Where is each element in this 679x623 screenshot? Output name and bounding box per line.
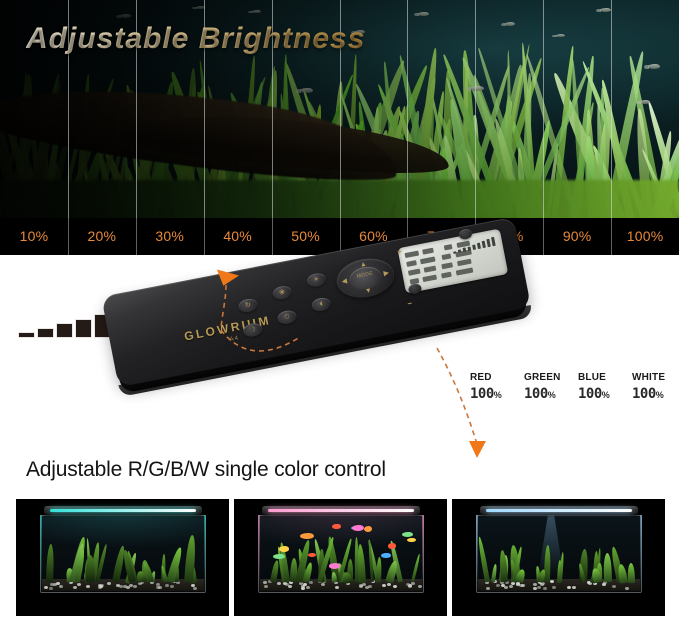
aquarium-blue xyxy=(452,499,665,616)
brightness-label-1: 10% xyxy=(0,218,68,255)
channel-label: WHITE xyxy=(632,372,679,383)
channel-value: 100 xyxy=(578,386,602,402)
brightness-label-4: 40% xyxy=(204,218,272,255)
aquarium-pink xyxy=(234,499,447,616)
aquarium-cyan xyxy=(16,499,229,616)
channel-blue: BLUE100% xyxy=(578,372,626,403)
channel-label: RED xyxy=(470,372,518,383)
dpad-center-label: MODE xyxy=(349,269,382,281)
channel-label: BLUE xyxy=(578,372,626,383)
sub-heading: Adjustable R/G/B/W single color control xyxy=(26,458,386,482)
aquarium-photo-row xyxy=(16,499,666,616)
channel-unit: % xyxy=(656,390,664,400)
led-light-bar xyxy=(480,506,638,515)
channel-red: RED100% xyxy=(470,372,518,403)
led-light-bar xyxy=(262,506,420,515)
page-title: Adjustable Brightness xyxy=(26,22,365,56)
aquarium-tank xyxy=(476,515,642,593)
brightness-step-3 xyxy=(56,323,73,338)
channel-label: GREEN xyxy=(524,372,572,383)
channel-unit: % xyxy=(548,390,556,400)
channel-unit: % xyxy=(602,390,610,400)
aquarium-tank xyxy=(258,515,424,593)
brightness-label-10: 100% xyxy=(611,218,679,255)
channel-value: 100 xyxy=(524,386,548,402)
brightness-step-1 xyxy=(18,332,35,338)
product-feature-image: 10%20%30%40%50%60%70%80%90%100% Adjustab… xyxy=(0,0,679,623)
brightness-step-4 xyxy=(75,319,92,338)
lcd-level-bars xyxy=(452,237,496,254)
dpad-center-button[interactable]: MODE xyxy=(348,264,384,292)
channel-green: GREEN100% xyxy=(524,372,572,403)
aquarium-tank xyxy=(40,515,206,593)
brightness-label-5: 50% xyxy=(272,218,340,255)
brightness-label-2: 20% xyxy=(68,218,136,255)
channel-value: 100 xyxy=(470,386,494,402)
brightness-step-2 xyxy=(37,328,54,338)
brightness-label-3: 30% xyxy=(136,218,204,255)
brightness-banner: 10%20%30%40%50%60%70%80%90%100% Adjustab… xyxy=(0,0,679,255)
channel-unit: % xyxy=(494,390,502,400)
channel-white: WHITE100% xyxy=(632,372,679,403)
rgbw-readout: RED100%GREEN100%BLUE100%WHITE100% xyxy=(470,372,670,412)
led-light-bar xyxy=(44,506,202,515)
brightness-label-9: 90% xyxy=(543,218,611,255)
channel-value: 100 xyxy=(632,386,656,402)
